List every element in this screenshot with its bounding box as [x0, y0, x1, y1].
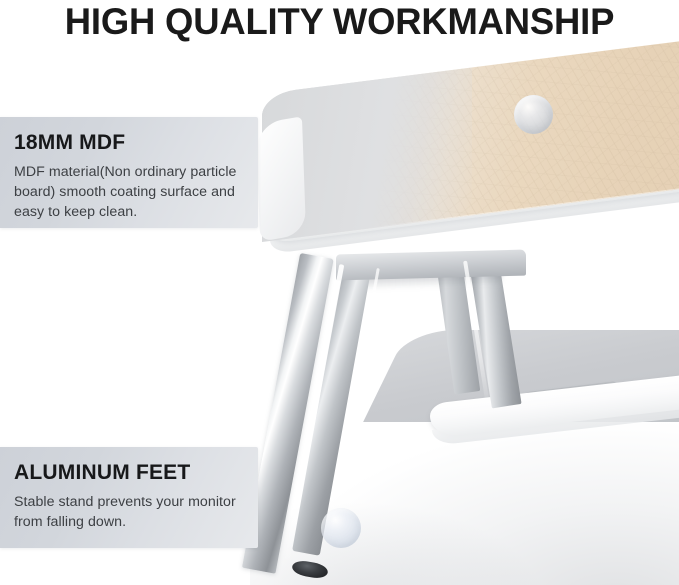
- highlight-bubble-top: [514, 95, 553, 134]
- desktop-underside: [270, 182, 679, 254]
- leg-highlight-a: [285, 264, 345, 560]
- leg-joint-shadow: [352, 269, 502, 290]
- floor-shadow: [259, 395, 679, 585]
- leg-joint-bracket: [336, 250, 526, 281]
- callout-title-aluminum-feet: ALUMINUM FEET: [14, 460, 244, 485]
- callout-body-mdf: MDF material(Non ordinary particle board…: [14, 162, 244, 222]
- aluminum-leg-rear-inner: [436, 260, 480, 394]
- highlight-bubble-foot: [321, 508, 361, 548]
- callout-title-mdf: 18MM MDF: [14, 130, 244, 155]
- desktop-paint-sheen: [262, 67, 472, 242]
- floor-shadow-secondary: [250, 465, 550, 585]
- desktop-left-corner: [256, 116, 306, 241]
- callout-body-aluminum-feet: Stable stand prevents your monitor from …: [14, 492, 244, 532]
- mdf-desktop-surface: [262, 35, 679, 242]
- callout-card-aluminum-feet: ALUMINUM FEET Stable stand prevents your…: [0, 447, 258, 548]
- callout-card-mdf: 18MM MDF MDF material(Non ordinary parti…: [0, 117, 258, 228]
- aluminum-leg-front-inner: [292, 256, 373, 556]
- leg-highlight-b: [327, 268, 380, 544]
- mdf-grain-texture: [262, 35, 679, 242]
- lower-shelf-surface: [363, 330, 679, 422]
- desktop-edge-band: [266, 155, 679, 244]
- lower-shelf-notch: [517, 381, 619, 408]
- rubber-foot-cap: [291, 559, 329, 580]
- lower-shelf-front-edge: [430, 366, 679, 438]
- infographic-page: HIGH QUALITY WORKMANSHIP 18MM MDF MDF ma…: [0, 0, 679, 585]
- aluminum-leg-rear-outer: [468, 254, 521, 409]
- leg-highlight-c: [463, 261, 489, 400]
- lower-shelf-underside: [432, 394, 679, 446]
- page-title: HIGH QUALITY WORKMANSHIP: [5, 0, 674, 44]
